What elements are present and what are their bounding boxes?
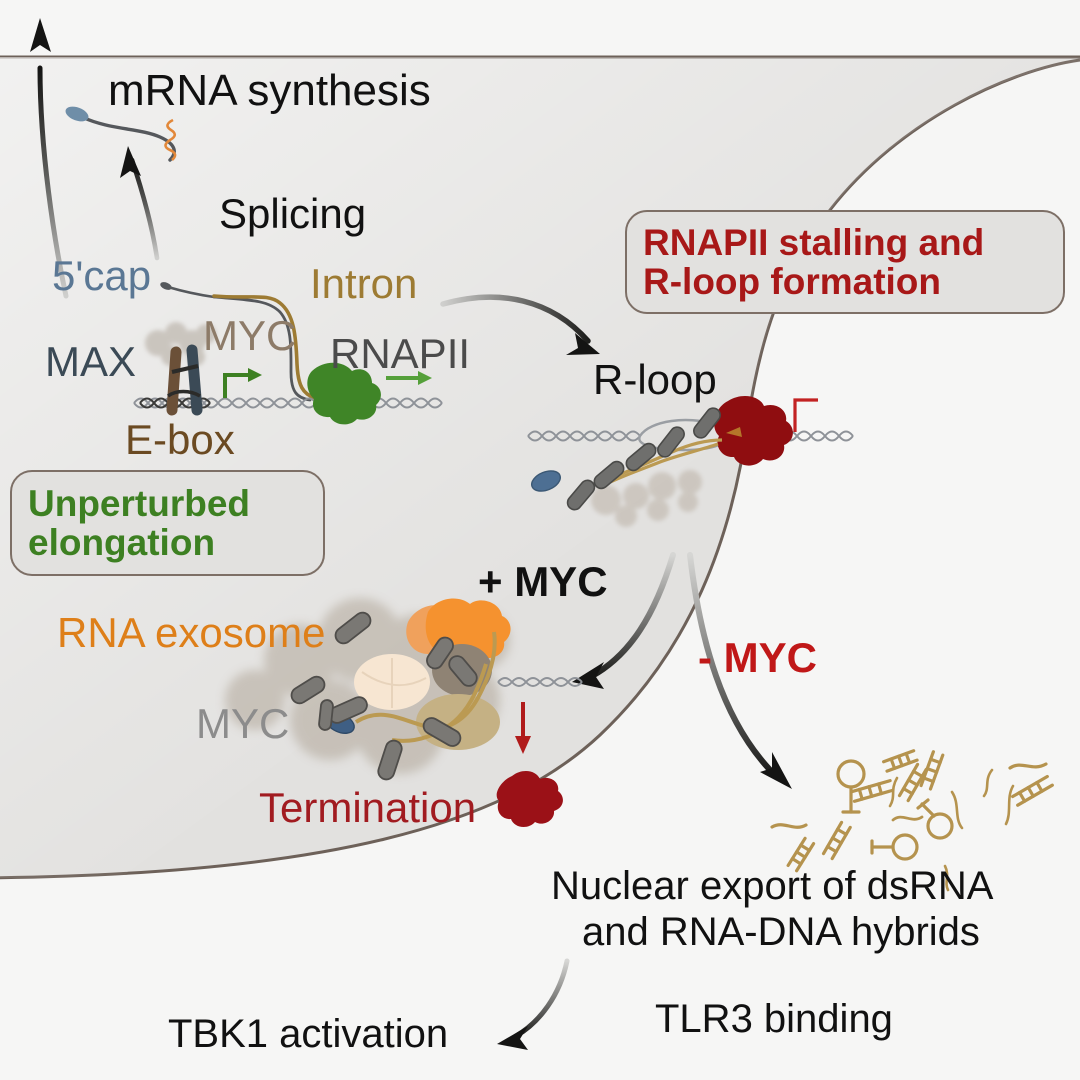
callout-rnapii-stalling[interactable]: RNAPII stalling and R-loop formation [625, 210, 1065, 314]
page-title-mrna-synthesis: mRNA synthesis [108, 68, 431, 115]
label-tlr3-binding: TLR3 binding [655, 998, 893, 1040]
label-nuclear-export-line1: Nuclear export of dsRNA [551, 865, 993, 907]
stalled-rnapii [714, 396, 793, 466]
max-helix [192, 350, 197, 410]
figure-canvas: mRNA synthesis Splicing 5'cap Intron MYC… [0, 0, 1080, 1080]
callout-stalling-line1: RNAPII stalling and [643, 223, 984, 262]
label-plus-myc: + MYC [478, 560, 608, 605]
dsrna-ladder-7 [884, 751, 917, 771]
label-ebox: E-box [125, 418, 235, 463]
label-splicing: Splicing [219, 192, 366, 237]
hairpin-3 [872, 835, 917, 859]
myc-helix [172, 352, 176, 410]
dsrna-ladder-4 [1013, 777, 1053, 806]
label-rnapii: RNAPII [330, 332, 470, 377]
callout-unperturbed-elongation[interactable]: Unperturbed elongation [10, 470, 325, 576]
label-myc-exosome: MYC [196, 702, 289, 747]
label-nuclear-export-line2: and RNA-DNA hybrids [582, 911, 980, 953]
terminated-rnapii-blob [497, 771, 563, 827]
tlr3-to-tbk1-arrow [497, 961, 567, 1050]
label-tbk1-activation: TBK1 activation [168, 1013, 448, 1055]
label-rna-exosome: RNA exosome [57, 611, 325, 656]
stall-stop-flag [795, 400, 818, 432]
label-rloop: R-loop [593, 358, 717, 403]
callout-elongation-line2: elongation [28, 523, 250, 562]
label-5prime-cap: 5'cap [52, 254, 151, 299]
hairpin-2 [918, 800, 952, 838]
dsrna-ladder-5 [824, 822, 851, 858]
label-termination: Termination [259, 786, 476, 831]
callout-stalling-line2: R-loop formation [643, 262, 984, 301]
nucleus-shape [0, 57, 1080, 878]
hairpin-1 [838, 761, 864, 812]
label-max: MAX [45, 340, 136, 385]
callout-elongation-line1: Unperturbed [28, 484, 250, 523]
label-intron: Intron [310, 262, 417, 307]
label-myc-top: MYC [203, 314, 296, 359]
label-minus-myc: - MYC [698, 636, 817, 681]
